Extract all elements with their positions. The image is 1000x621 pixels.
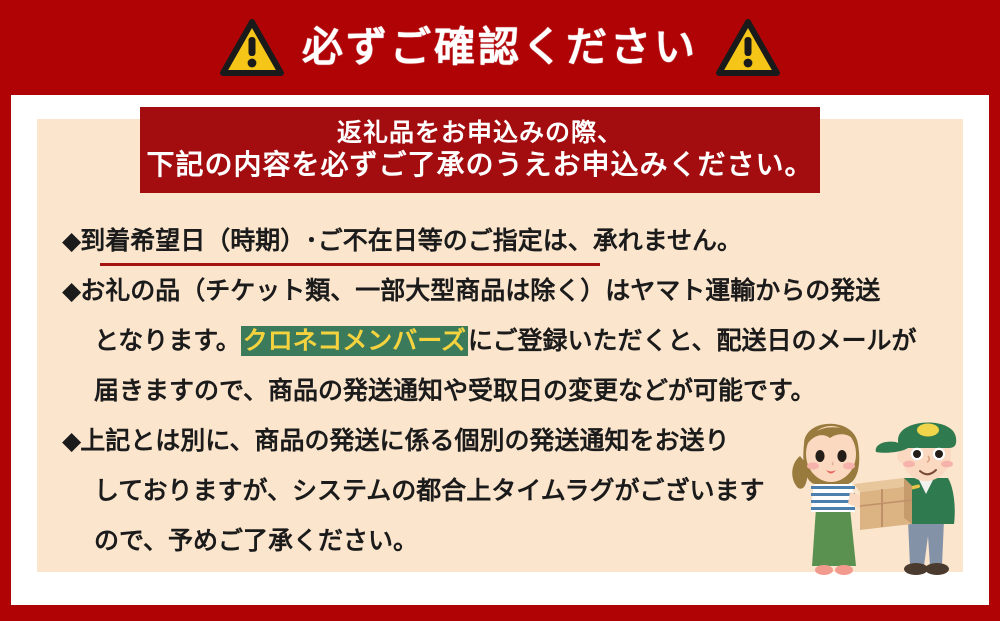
note-item-with-highlight: となります。クロネコメンバーズにご登録いただくと、配送日のメールが [62, 316, 942, 366]
note-text: しておりますが、システムの都合上タイムラグがございます [94, 477, 765, 505]
banner-line-2: 下記の内容を必ずご了承のうえお申込みください。 [146, 148, 813, 181]
warning-triangle-icon-left [220, 19, 284, 77]
banner-line-1: 返礼品をお申込みの際、 [337, 119, 623, 149]
bullet-marker: ◆ [62, 277, 80, 305]
warning-triangle-icon-right [716, 19, 780, 77]
page-title: 必ずご確認ください [302, 27, 698, 68]
note-item: ◆到着希望日（時期）･ご不在日等のご指定は、承れません。 [62, 216, 942, 266]
delivery-handover-illustration [778, 396, 968, 582]
frame-border-bottom [0, 605, 1000, 621]
header-band: 必ずご確認ください [0, 0, 1000, 95]
note-text-post: にご登録いただくと、配送日のメールが [468, 327, 917, 355]
note-text: お礼の品（チケット類、一部大型商品は除く）はヤマト運輸からの発送 [80, 277, 880, 305]
frame-border-right [989, 95, 1000, 621]
instruction-banner: 返礼品をお申込みの際、 下記の内容を必ずご了承のうえお申込みください。 [140, 107, 820, 193]
note-text: 届きますので、商品の発送通知や受取日の変更などが可能です。 [94, 377, 816, 405]
notice-page: 必ずご確認ください 返礼品をお申込みの際、 下記の内容を必ずご了承のうえお申込み… [0, 0, 1000, 621]
note-text-pre: となります。 [94, 327, 241, 355]
note-text: 到着希望日（時期）･ご不在日等のご指定は、承れません。 [80, 227, 742, 255]
bullet-marker: ◆ [62, 227, 80, 255]
note-text: ので、予めご了承ください。 [94, 527, 418, 555]
note-item: ◆お礼の品（チケット類、一部大型商品は除く）はヤマト運輸からの発送 [62, 266, 942, 316]
note-underline [100, 263, 600, 266]
note-text: 上記とは別に、商品の発送に係る個別の発送通知をお送り [80, 427, 729, 455]
frame-border-left [0, 95, 11, 621]
bullet-marker: ◆ [62, 427, 80, 455]
kuroneko-members-highlight: クロネコメンバーズ [241, 326, 468, 356]
